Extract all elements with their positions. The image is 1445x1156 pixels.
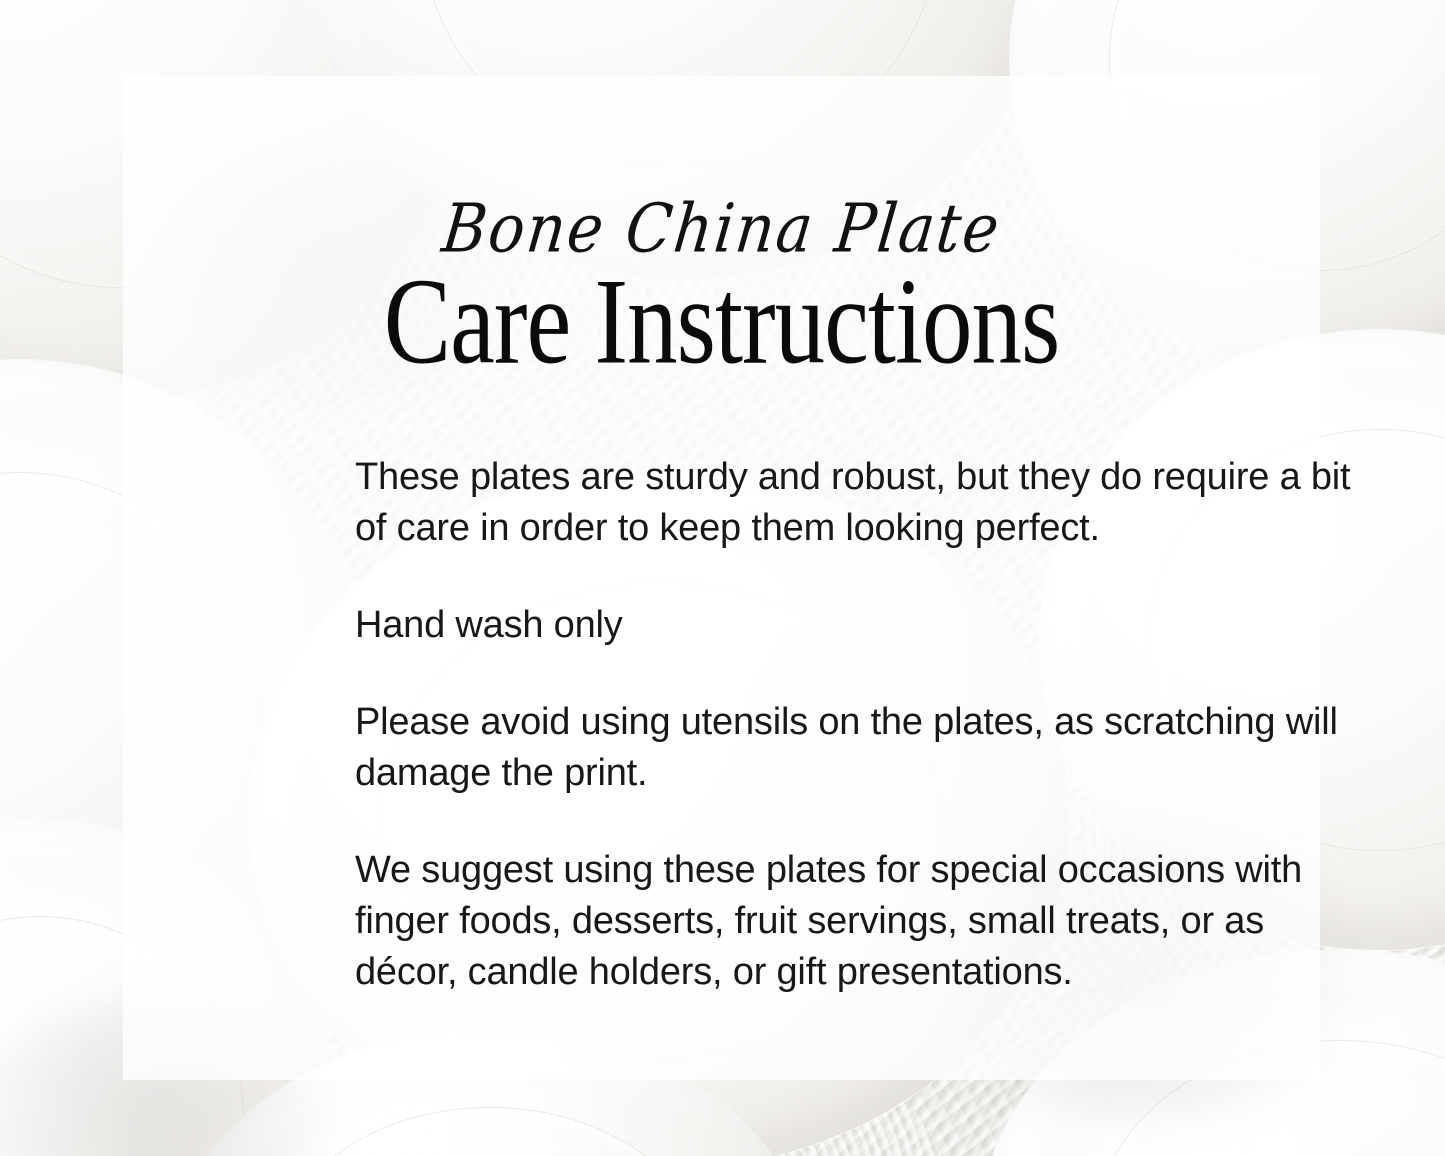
page-title: Care Instructions bbox=[141, 261, 1302, 384]
plate-gloss-highlight bbox=[0, 0, 263, 30]
care-instructions-card: Bone China Plate Care Instructions These… bbox=[0, 0, 1445, 1156]
instruction-paragraph: These plates are sturdy and robust, but … bbox=[355, 452, 1365, 554]
plate-gloss-highlight bbox=[1069, 0, 1445, 43]
instruction-paragraph: Hand wash only bbox=[355, 600, 1365, 651]
instruction-paragraph: We suggest using these plates for specia… bbox=[355, 845, 1365, 998]
instructions-body: These plates are sturdy and robust, but … bbox=[355, 452, 1365, 998]
instruction-paragraph: Please avoid using utensils on the plate… bbox=[355, 697, 1365, 799]
content-panel: Bone China Plate Care Instructions These… bbox=[123, 76, 1320, 1080]
